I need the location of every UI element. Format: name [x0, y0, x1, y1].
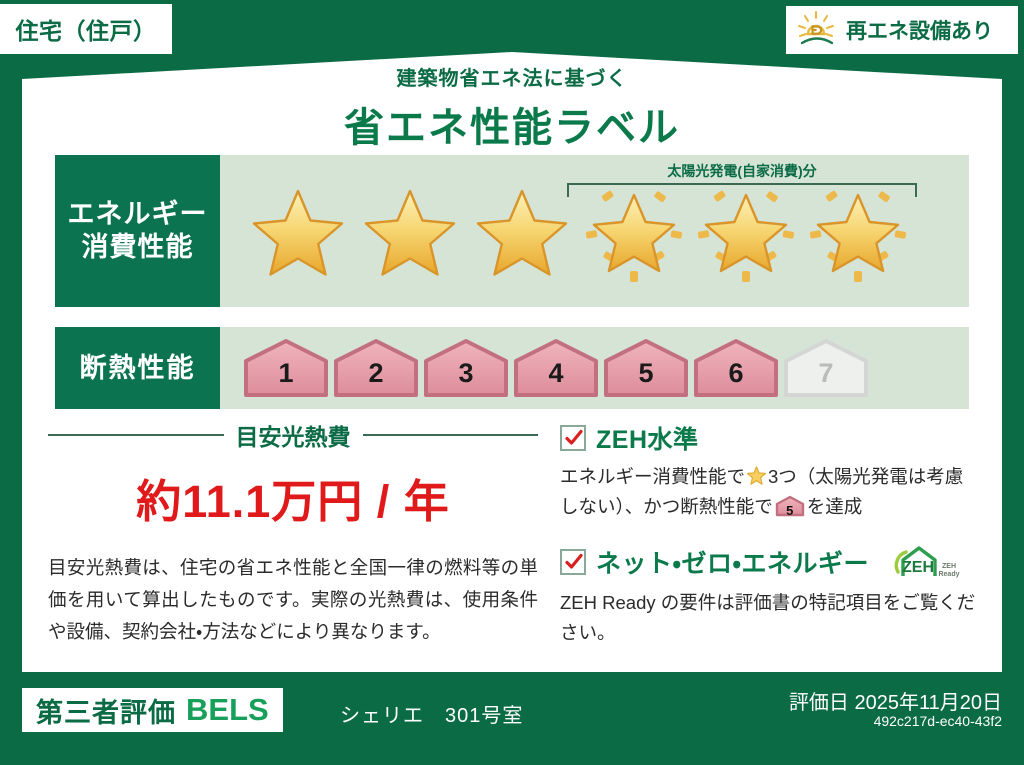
- net-zero-energy-title: ネット・ゼロ・エネルギー: [596, 544, 869, 580]
- heading-rule-left: [48, 434, 224, 436]
- insulation-performance-row: 断熱性能 1 2 3: [55, 327, 969, 409]
- building-name: シェリエ 301号室: [340, 699, 523, 728]
- energy-performance-panel: 太陽光発電(自家消費)分: [220, 155, 969, 307]
- renewable-badge-label: 再エネ設備あり: [846, 15, 993, 45]
- insulation-grade-1: 1: [242, 337, 330, 399]
- insulation-performance-label: 断熱性能: [55, 327, 220, 409]
- estimated-cost-note: 目安光熱費は、住宅の省エネ性能と全国一律の燃料等の単価を用いて算出したものです。…: [48, 552, 538, 647]
- zeh-standard-title: ZEH水準: [596, 420, 699, 456]
- evaluation-date: 評価日 2025年11月20日: [789, 686, 1002, 715]
- category-badge: 住宅（住戸）: [0, 4, 172, 54]
- insulation-grade-4-num: 4: [512, 358, 600, 389]
- bels-badge-en: BELS: [186, 692, 269, 728]
- insulation-grade-2-num: 2: [332, 358, 420, 389]
- star-icon-2: [356, 177, 464, 285]
- svg-text:Ready: Ready: [939, 571, 960, 578]
- star-icon-6: [804, 177, 912, 285]
- energy-performance-row: エネルギー 消費性能 太陽光発電(自家消費)分: [55, 155, 969, 307]
- net-zero-energy-body: ZEH Ready の要件は評価書の特記項目をご覧ください。: [560, 588, 976, 648]
- label-page: 住宅（住戸） 再エネ設備あり 建築物省: [0, 0, 1024, 765]
- category-badge-label: 住宅（住戸）: [16, 12, 157, 46]
- svg-text:ZEH: ZEH: [942, 563, 956, 570]
- zeh-standard-header: ZEH水準: [560, 420, 976, 456]
- net-zero-energy-check: ネット・ゼロ・エネルギー ZEH ZEH Ready ZEH Ready の要件…: [560, 542, 976, 648]
- insulation-grade-2: 2: [332, 337, 420, 399]
- renewable-badge: 再エネ設備あり: [786, 6, 1018, 54]
- net-zero-energy-header: ネット・ゼロ・エネルギー ZEH ZEH Ready: [560, 542, 976, 582]
- star-icon-3: [468, 177, 576, 285]
- star-icon-1: [244, 177, 352, 285]
- zeh-standard-check: ZEH水準 エネルギー消費性能で3つ（太陽光発電は考慮しない）、かつ断熱性能で5…: [560, 420, 976, 522]
- insulation-grade-3-num: 3: [422, 358, 510, 389]
- insulation-grade-icon-inline-num: 5: [775, 500, 805, 521]
- certification-checks: ZEH水準 エネルギー消費性能で3つ（太陽光発電は考慮しない）、かつ断熱性能で5…: [560, 420, 976, 648]
- checkmark-icon-zeh-standard: [560, 425, 586, 451]
- estimated-energy-cost: 目安光熱費 約11.1万円 / 年 目安光熱費は、住宅の省エネ性能と全国一律の燃…: [48, 418, 538, 647]
- insulation-grade-5: 5: [602, 337, 690, 399]
- insulation-grade-4: 4: [512, 337, 600, 399]
- heading-rule-right: [363, 434, 539, 436]
- insulation-grade-icon-inline: 5: [775, 495, 805, 517]
- star-icon-inline: [746, 465, 767, 486]
- checkmark-icon-net-zero: [560, 549, 586, 575]
- svg-text:ZEH: ZEH: [902, 559, 934, 576]
- bels-badge-jp: 第三者評価: [36, 691, 176, 730]
- insulation-grade-3: 3: [422, 337, 510, 399]
- estimated-cost-value: 約11.1万円 / 年: [48, 465, 538, 530]
- insulation-grade-7-num: 7: [782, 358, 870, 389]
- zeh-body-part3: を達成: [807, 496, 863, 517]
- insulation-grade-6-num: 6: [692, 358, 780, 389]
- bels-badge: 第三者評価 BELS: [22, 688, 283, 732]
- star-rating: [220, 155, 969, 307]
- insulation-performance-panel: 1 2 3 4 5: [220, 327, 969, 409]
- insulation-grade-1-num: 1: [242, 358, 330, 389]
- insulation-grade-7: 7: [782, 337, 870, 399]
- insulation-grade-5-num: 5: [602, 358, 690, 389]
- evaluation-id: 492c217d-ec40-43f2: [874, 713, 1002, 729]
- estimated-cost-heading: 目安光熱費: [48, 418, 538, 452]
- insulation-grade-scale: 1 2 3 4 5: [220, 327, 969, 409]
- zeh-body-part1: エネルギー消費性能で: [560, 466, 745, 487]
- insulation-grade-6: 6: [692, 337, 780, 399]
- zeh-standard-body: エネルギー消費性能で3つ（太陽光発電は考慮しない）、かつ断熱性能で5を達成: [560, 462, 976, 522]
- solar-sun-icon: [796, 10, 838, 50]
- energy-performance-label: エネルギー 消費性能: [55, 155, 220, 307]
- star-icon-4: [580, 177, 688, 285]
- star-icon-5: [692, 177, 800, 285]
- estimated-cost-heading-label: 目安光熱費: [236, 418, 351, 452]
- zeh-ready-logo: ZEH ZEH Ready: [885, 542, 961, 582]
